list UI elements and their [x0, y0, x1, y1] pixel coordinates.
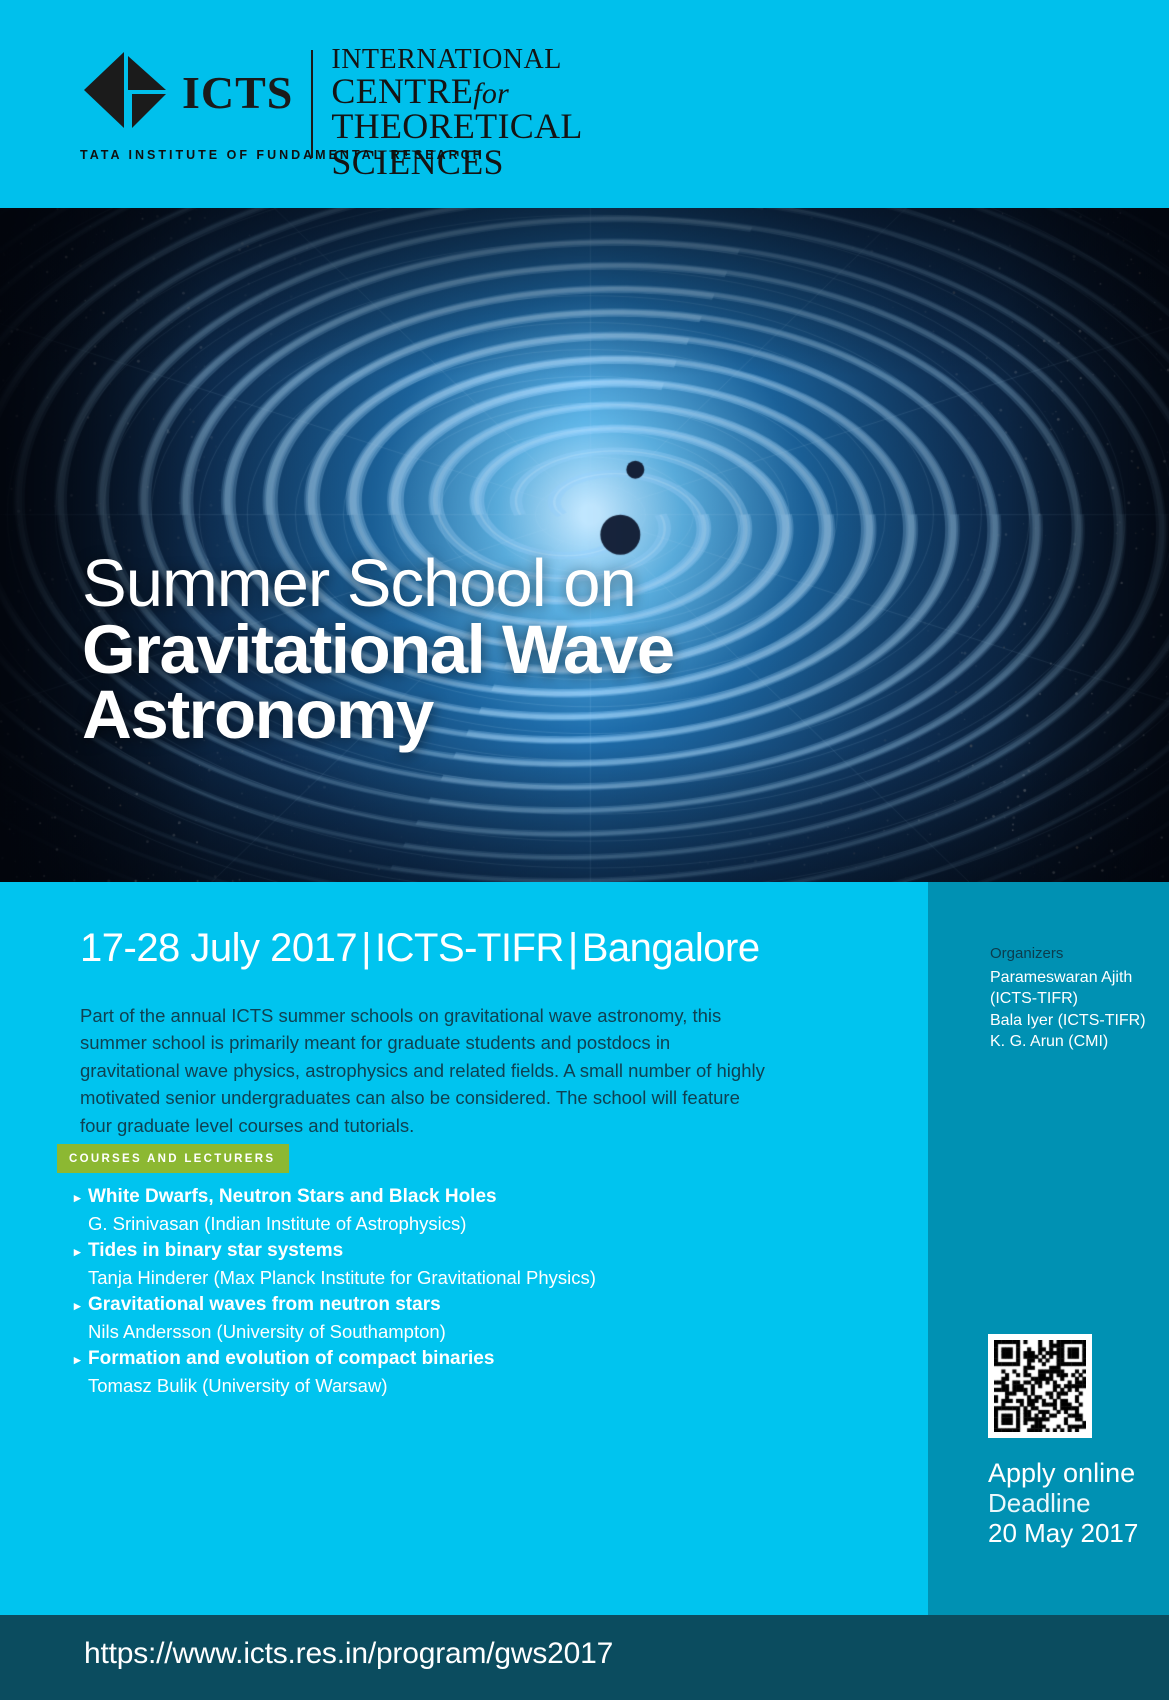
qr-code[interactable]	[988, 1334, 1092, 1438]
course-item: ▸Gravitational waves from neutron starsN…	[74, 1292, 834, 1345]
course-title: Gravitational waves from neutron stars	[88, 1292, 441, 1319]
organizers-list: Parameswaran Ajith(ICTS-TIFR)Bala Iyer (…	[990, 967, 1169, 1052]
event-institute: ICTS-TIFR	[375, 926, 564, 970]
triangle-bullet-icon: ▸	[74, 1243, 88, 1261]
course-title-row: ▸White Dwarfs, Neutron Stars and Black H…	[74, 1184, 834, 1211]
event-city: Bangalore	[582, 926, 760, 970]
poster-header: ICTS INTERNATIONAL CENTREfor THEORETICAL…	[0, 0, 1169, 208]
event-description: Part of the annual ICTS summer schools o…	[80, 1002, 770, 1139]
icts-diamond-logo-icon	[80, 50, 176, 128]
org-line-theoretical: THEORETICAL	[331, 109, 582, 145]
apply-online-label[interactable]: Apply online	[988, 1458, 1138, 1488]
organizer-entry: K. G. Arun (CMI)	[990, 1031, 1169, 1052]
hero-artwork	[0, 208, 1169, 882]
hero-image-binary-black-holes: Summer School on Gravitational Wave Astr…	[0, 208, 1169, 882]
course-lecturer: Tanja Hinderer (Max Planck Institute for…	[88, 1265, 834, 1291]
course-lecturer: Nils Andersson (University of Southampto…	[88, 1319, 834, 1345]
course-item: ▸Tides in binary star systemsTanja Hinde…	[74, 1238, 834, 1291]
course-title: Formation and evolution of compact binar…	[88, 1346, 494, 1373]
course-title-row: ▸Gravitational waves from neutron stars	[74, 1292, 834, 1319]
course-item: ▸White Dwarfs, Neutron Stars and Black H…	[74, 1184, 834, 1237]
course-lecturer: Tomasz Bulik (University of Warsaw)	[88, 1373, 834, 1399]
course-lecturer: G. Srinivasan (Indian Institute of Astro…	[88, 1211, 834, 1237]
title-line-1: Summer School on	[82, 553, 674, 615]
triangle-bullet-icon: ▸	[74, 1189, 88, 1207]
poster-footer: https://www.icts.res.in/program/gws2017	[0, 1615, 1169, 1700]
courses-and-lecturers-badge: COURSES AND LECTURERS	[57, 1144, 289, 1173]
main-content: 17-28 July 2017|ICTS-TIFR|Bangalore Part…	[0, 882, 1169, 1615]
org-line-centre-for: CENTREfor	[331, 74, 582, 110]
date-venue-line: 17-28 July 2017|ICTS-TIFR|Bangalore	[80, 926, 760, 971]
courses-list: ▸White Dwarfs, Neutron Stars and Black H…	[74, 1184, 834, 1399]
organizer-entry: (ICTS-TIFR)	[990, 988, 1169, 1009]
main-left-column: 17-28 July 2017|ICTS-TIFR|Bangalore Part…	[0, 882, 928, 1615]
triangle-bullet-icon: ▸	[74, 1297, 88, 1315]
course-item: ▸Formation and evolution of compact bina…	[74, 1346, 834, 1399]
deadline-label: Deadline	[988, 1488, 1138, 1518]
icts-acronym: ICTS	[182, 70, 293, 116]
triangle-bullet-icon: ▸	[74, 1351, 88, 1369]
website-url[interactable]: https://www.icts.res.in/program/gws2017	[84, 1637, 613, 1671]
sidebar-panel: Organizers Parameswaran Ajith(ICTS-TIFR)…	[928, 882, 1169, 1615]
event-dates: 17-28 July 2017	[80, 926, 357, 970]
separator-1: |	[357, 926, 375, 970]
organizer-entry: Parameswaran Ajith	[990, 967, 1169, 988]
title-line-2: Gravitational Wave	[82, 617, 674, 683]
apply-block: Apply online Deadline 20 May 2017	[988, 1458, 1138, 1549]
tifr-subtitle: TATA INSTITUTE OF FUNDAMENTAL RESEARCH	[80, 148, 485, 162]
poster-title: Summer School on Gravitational Wave Astr…	[82, 553, 674, 748]
course-title-row: ▸Tides in binary star systems	[74, 1238, 834, 1265]
course-title: Tides in binary star systems	[88, 1238, 343, 1265]
org-line-international: INTERNATIONAL	[331, 46, 582, 74]
course-title-row: ▸Formation and evolution of compact bina…	[74, 1346, 834, 1373]
course-title: White Dwarfs, Neutron Stars and Black Ho…	[88, 1184, 497, 1211]
org-word-centre: CENTRE	[331, 71, 473, 111]
organizers-label: Organizers	[990, 945, 1063, 962]
title-line-3: Astronomy	[82, 682, 674, 748]
deadline-date: 20 May 2017	[988, 1518, 1138, 1548]
org-word-for: for	[473, 77, 509, 110]
poster-root: ICTS INTERNATIONAL CENTREfor THEORETICAL…	[0, 0, 1169, 1700]
separator-2: |	[564, 926, 582, 970]
logo-divider	[311, 50, 313, 158]
organizer-entry: Bala Iyer (ICTS-TIFR)	[990, 1010, 1169, 1031]
